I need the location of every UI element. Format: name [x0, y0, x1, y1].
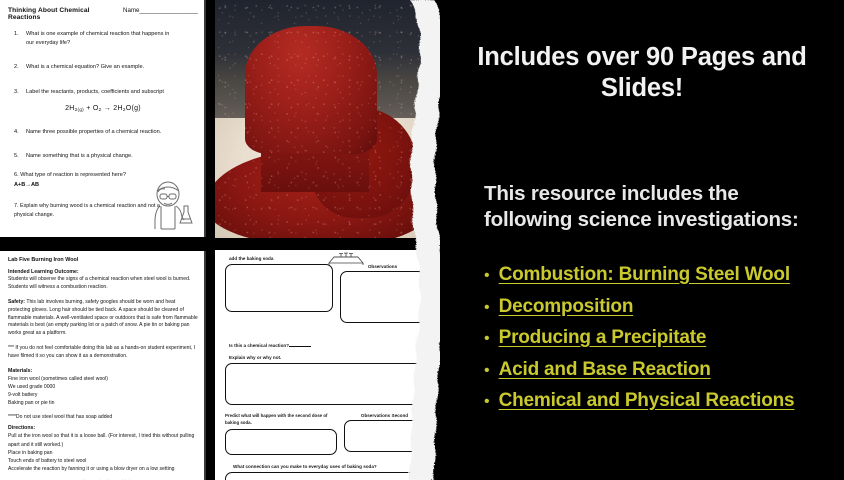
scientist-with-flask-icon: [148, 179, 194, 231]
question-number: 4.: [14, 128, 21, 137]
lab-materials-warning: ****Do not use steel wool that has soap …: [8, 414, 198, 422]
worksheet-question: 5. Name something that is a physical cha…: [8, 152, 198, 161]
promo-panel: Includes over 90 Pages and Slides! This …: [440, 0, 844, 480]
investigation-label: Acid and Base Reaction: [499, 359, 711, 381]
question-text: Name three possible properties of a chem…: [26, 128, 161, 137]
list-item: Accelerate the reaction by fanning it or…: [8, 465, 198, 473]
lab-safety-label: Safety:: [8, 299, 25, 305]
lab-five-document-page: Lab Five Burning Iron Wool Intended Lear…: [0, 251, 206, 480]
list-item[interactable]: • Producing a Precipitate: [484, 327, 844, 349]
lab-title: Lab Five Burning Iron Wool: [8, 257, 198, 263]
answer-box-add-baking-soda[interactable]: [225, 264, 333, 312]
recording-sheet-body: add the baking soda Observations Is this…: [215, 250, 431, 480]
answer-box-explain[interactable]: [225, 363, 425, 405]
lab-materials-label: Materials:: [8, 368, 198, 374]
question-number: 2.: [14, 63, 21, 72]
worksheet-header: Thinking About Chemical Reactions Name__…: [8, 7, 198, 21]
connection-question: What connection can you make to everyday…: [233, 464, 425, 469]
chemical-equation: 2H2(g) + O2 → 2H2O(g): [8, 105, 198, 112]
predict-label: Predict what will happen with the second…: [225, 413, 337, 426]
list-item: Touch ends of battery to steel wool: [8, 457, 198, 465]
lab-materials-list: Fine iron wool (sometimes called steel w…: [8, 375, 198, 408]
slide-canvas: Thinking About Chemical Reactions Name__…: [0, 0, 844, 480]
answer-box-observations-second[interactable]: [344, 420, 425, 452]
lab-outcome-text: Students will observe the signs of a che…: [8, 276, 198, 292]
question-text: Name something that is a physical change…: [26, 152, 133, 161]
chemical-reactions-worksheet-page: Thinking About Chemical Reactions Name__…: [0, 0, 206, 237]
bullet-icon: •: [484, 363, 490, 379]
worksheet-question: 4. Name three possible properties of a c…: [8, 128, 198, 137]
list-item: Fine iron wool (sometimes called steel w…: [8, 375, 198, 383]
list-item: Baking pan or pie tin: [8, 399, 198, 407]
question-text: What is a chemical equation? Give an exa…: [26, 63, 144, 72]
investigations-list: • Combustion: Burning Steel Wool • Decom…: [484, 264, 844, 422]
bullet-icon: •: [484, 331, 490, 347]
question-number: 5.: [14, 152, 21, 161]
lab-safety-text: This lab involves burning, safety google…: [8, 299, 198, 337]
reaction-photo: [215, 0, 431, 238]
bullet-icon: •: [484, 268, 490, 284]
page-edge-line: [204, 251, 206, 480]
investigation-label: Combustion: Burning Steel Wool: [499, 264, 790, 286]
list-item[interactable]: • Combustion: Burning Steel Wool: [484, 264, 844, 286]
bullet-icon: •: [484, 394, 490, 410]
list-item[interactable]: • Chemical and Physical Reactions: [484, 390, 844, 412]
list-item: Place in baking pan: [8, 449, 198, 457]
promo-subhead: This resource includes the following sci…: [484, 181, 814, 233]
lab-demo-note: *** If you do not feel comfortable doing…: [8, 345, 198, 361]
investigation-label: Producing a Precipitate: [499, 327, 707, 349]
question-text: 6. What type of reaction is represented …: [14, 172, 126, 178]
worksheet-name-field: Name_________________: [123, 7, 198, 14]
promo-headline: Includes over 90 Pages and Slides!: [454, 42, 830, 104]
worksheet-question-seven: 7. Explain why burning wood is a chemica…: [8, 202, 160, 219]
question-number: 3.: [14, 88, 21, 97]
bullet-icon: •: [484, 300, 490, 316]
list-item: Pull at the iron wool so that it is a lo…: [8, 432, 198, 448]
dish-on-stand-icon: [323, 252, 369, 266]
answer-blank[interactable]: [289, 342, 311, 347]
question-text: What is one example of chemical reaction…: [26, 30, 176, 48]
answer-box-predict[interactable]: [225, 429, 337, 455]
worksheet-question: 3. Label the reactants, products, coeffi…: [8, 88, 198, 97]
question-text: Label the reactants, products, coefficie…: [26, 88, 164, 97]
photo-bubble-texture: [215, 0, 431, 238]
observations-second-label: Observations Second: [344, 413, 425, 418]
list-item: 9-volt battery: [8, 391, 198, 399]
lab-safety-block: Safety: This lab involves burning, safet…: [8, 299, 198, 338]
lab-directions-list: Pull at the iron wool so that it is a lo…: [8, 432, 198, 473]
student-recording-sheet: add the baking soda Observations Is this…: [215, 250, 431, 480]
list-item: We used grade 0000: [8, 383, 198, 391]
worksheet-title: Thinking About Chemical Reactions: [8, 7, 105, 21]
answer-box-connection[interactable]: [225, 472, 425, 480]
lab-directions-label: Directions:: [8, 425, 198, 431]
investigation-label: Chemical and Physical Reactions: [499, 390, 795, 412]
list-item[interactable]: • Decomposition: [484, 296, 844, 318]
answer-box-observations[interactable]: [340, 271, 425, 323]
explain-why-label: Explain why or why not.: [229, 355, 425, 360]
investigation-label: Decomposition: [499, 296, 634, 318]
lab-outcome-label: Intended Learning Outcome:: [8, 269, 198, 275]
page-edge-line: [204, 0, 206, 237]
worksheet-question: 2. What is a chemical equation? Give an …: [8, 63, 198, 72]
chemical-reaction-question: Is this a chemical reaction?: [229, 343, 289, 348]
list-item[interactable]: • Acid and Base Reaction: [484, 359, 844, 381]
worksheet-question: 1. What is one example of chemical react…: [8, 30, 198, 48]
question-number: 1.: [14, 30, 21, 48]
